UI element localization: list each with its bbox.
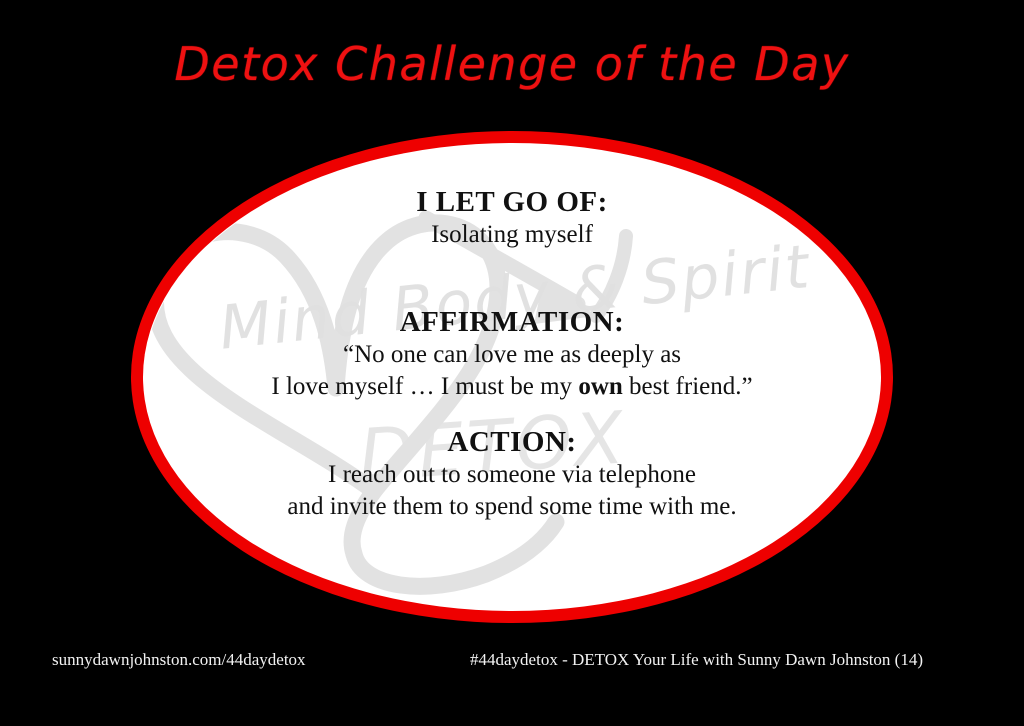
section-action: ACTION: I reach out to someone via telep… — [126, 426, 898, 523]
action-heading: ACTION: — [126, 426, 898, 459]
action-line-2: and invite them to spend some time with … — [126, 491, 898, 523]
affirmation-line-2-part-a: I love myself … I must be my — [271, 373, 578, 400]
content-oval: Mind Body & Spirit DETOX I LET GO OF: Is… — [126, 126, 898, 628]
let-go-line-1: Isolating myself — [126, 219, 898, 251]
page-title: Detox Challenge of the Day — [0, 40, 1024, 88]
detox-challenge-card: Detox Challenge of the Day — [0, 0, 1024, 726]
affirmation-line-2-part-b: best friend.” — [623, 373, 753, 400]
section-let-go: I LET GO OF: Isolating myself — [126, 186, 898, 251]
oval-text-content: I LET GO OF: Isolating myself AFFIRMATIO… — [126, 126, 898, 628]
footer-website-link[interactable]: sunnydawnjohnston.com/44daydetox — [52, 650, 306, 670]
affirmation-heading: AFFIRMATION: — [126, 306, 898, 339]
let-go-heading: I LET GO OF: — [126, 186, 898, 219]
section-affirmation: AFFIRMATION: “No one can love me as deep… — [126, 306, 898, 403]
footer: sunnydawnjohnston.com/44daydetox #44dayd… — [0, 650, 1024, 680]
affirmation-line-2: I love myself … I must be my own best fr… — [126, 371, 898, 403]
footer-campaign-label: #44daydetox - DETOX Your Life with Sunny… — [470, 650, 923, 670]
affirmation-line-1: “No one can love me as deeply as — [126, 339, 898, 371]
affirmation-line-2-emphasis: own — [578, 373, 622, 400]
action-line-1: I reach out to someone via telephone — [126, 459, 898, 491]
